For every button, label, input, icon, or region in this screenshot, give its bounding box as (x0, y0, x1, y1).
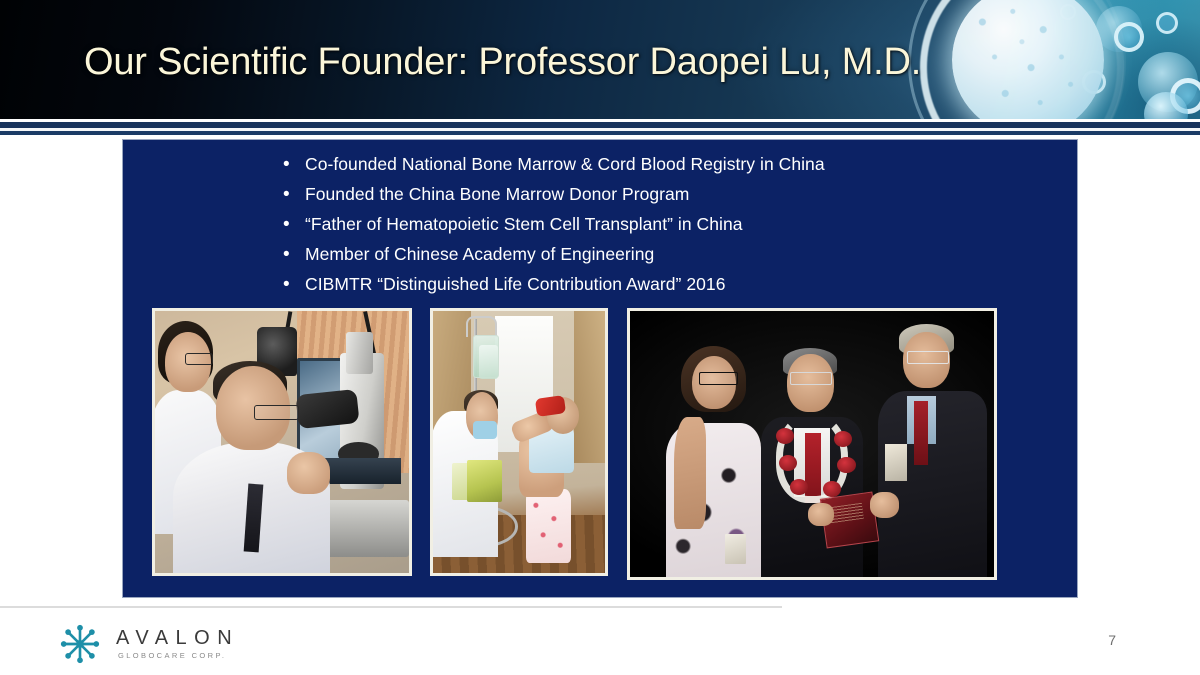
company-logo: AVALON GLOBOCARE CORP. (58, 622, 239, 666)
bullet-text: Co-founded National Bone Marrow & Cord B… (305, 151, 825, 178)
photo3-lei-flower (776, 428, 794, 444)
photo3-presenter-badge (885, 444, 907, 481)
photo-lab-microscope (152, 308, 412, 576)
photo1-researcher-glasses (185, 353, 212, 365)
photo3-presenter-tie (914, 401, 929, 465)
list-item: • Founded the China Bone Marrow Donor Pr… (283, 181, 1063, 208)
photo1-microscope-eyepiece (296, 389, 360, 429)
bullet-text: CIBMTR “Distinguished Life Contribution … (305, 271, 725, 298)
logo-wordmark: AVALON GLOBOCARE CORP. (116, 627, 239, 661)
avalon-molecule-icon (58, 622, 102, 666)
photo2-iv-bag-secondary (479, 345, 498, 379)
photo2-curtain-right (574, 311, 605, 463)
photo3-lei-flower (790, 479, 808, 495)
logo-company-subtitle: GLOBOCARE CORP. (118, 650, 239, 661)
photo1-microscope-tube (346, 332, 374, 374)
bullet-text: Member of Chinese Academy of Engineering (305, 241, 654, 268)
photo3-lei-flower (779, 455, 797, 471)
photo-doctor-child-patient (430, 308, 608, 576)
bullet-marker-icon: • (283, 181, 305, 208)
bullet-marker-icon: • (283, 151, 305, 178)
bullet-marker-icon: • (283, 211, 305, 238)
list-item: • “Father of Hematopoietic Stem Cell Tra… (283, 211, 1063, 238)
list-item: • CIBMTR “Distinguished Life Contributio… (283, 271, 1063, 298)
footer-divider (0, 606, 782, 608)
photo-award-ceremony (627, 308, 997, 580)
header-separator-band-2 (0, 131, 1200, 135)
page-number: 7 (1108, 632, 1116, 648)
photo3-presenter-woman-arm (674, 417, 707, 529)
photo3-presenter-woman-badge (725, 534, 747, 563)
photo1-scientist-hand (287, 452, 330, 494)
photo3-presenter-hand (870, 492, 899, 519)
bullet-marker-icon: • (283, 241, 305, 268)
cell-ring-2 (1156, 12, 1178, 34)
bullet-list: • Co-founded National Bone Marrow & Cord… (283, 151, 1063, 301)
bullet-marker-icon: • (283, 271, 305, 298)
photo2-child-pants (526, 489, 571, 562)
bullet-text: Founded the China Bone Marrow Donor Prog… (305, 181, 689, 208)
photo3-lei-flower (837, 457, 855, 473)
slide: Our Scientific Founder: Professor Daopei… (0, 0, 1200, 675)
photo1-scientist-glasses (254, 405, 299, 420)
photo3-presenter-glasses (907, 351, 949, 364)
bullet-text: “Father of Hematopoietic Stem Cell Trans… (305, 211, 743, 238)
photo3-honoree-glasses (790, 372, 832, 385)
photo3-presenter-woman-glasses (699, 372, 737, 385)
logo-company-name: AVALON (116, 627, 239, 649)
list-item: • Co-founded National Bone Marrow & Cord… (283, 151, 1063, 178)
photo2-iv-hook (466, 316, 498, 336)
photo3-lei-flower (834, 431, 852, 447)
photo1-microscope-stage (325, 458, 401, 484)
photo2-iv-pump (467, 460, 501, 502)
page-title: Our Scientific Founder: Professor Daopei… (84, 37, 1064, 87)
photo2-doctor-mask (473, 421, 497, 439)
list-item: • Member of Chinese Academy of Engineeri… (283, 241, 1063, 268)
photo3-honoree-hand (808, 503, 833, 527)
slide-header: Our Scientific Founder: Professor Daopei… (0, 0, 1200, 119)
